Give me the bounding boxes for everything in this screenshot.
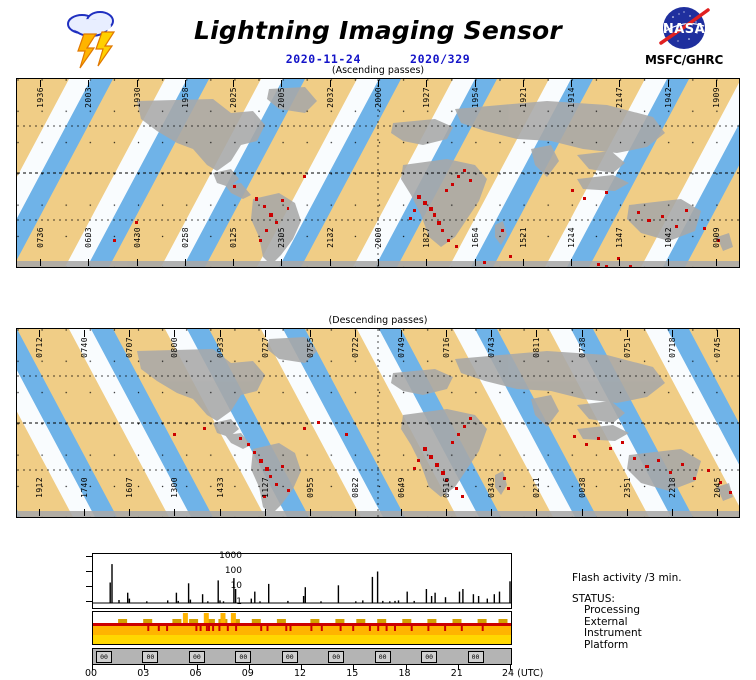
orbit-desc-top-tick (446, 330, 447, 337)
flash-bar (178, 601, 179, 603)
orbit-desc-top-tick (672, 330, 673, 337)
orbit-desc-bottom-label: 1300 (170, 477, 179, 498)
processing-mark (499, 619, 508, 623)
instrument-mark (260, 626, 262, 631)
orbit-desc-top-label: 0738 (578, 337, 587, 358)
orbit-desc-top-label: 0716 (442, 337, 451, 358)
flash-bar (268, 584, 269, 603)
hour-box: 00 (189, 651, 205, 663)
orbit-asc-top-label: 1936 (36, 87, 45, 108)
orbit-desc-bottom-tick (582, 509, 583, 516)
orbit-asc-bottom-label: 0909 (712, 227, 721, 248)
flash-bar (259, 601, 260, 603)
orbit-asc-top-tick (88, 80, 89, 87)
orbit-asc-top-label: 2000 (374, 87, 383, 108)
orbit-asc-top-tick (378, 80, 379, 87)
orbit-desc-top-label: 0740 (80, 337, 89, 358)
processing-mark (189, 619, 198, 623)
orbit-desc-top-tick (129, 330, 130, 337)
instrument-mark (386, 626, 388, 631)
orbit-asc-bottom-tick (571, 259, 572, 266)
processing-mark (118, 619, 127, 623)
processing-mark (221, 613, 226, 623)
orbit-asc-bottom-tick (281, 259, 282, 266)
orbit-desc-top-label: 0800 (170, 337, 179, 358)
flash-activity-chart[interactable] (92, 553, 512, 609)
processing-mark (204, 613, 209, 623)
instrument-mark (227, 626, 229, 631)
orbit-desc-bottom-label: 1433 (216, 477, 225, 498)
orbit-desc-top-tick (491, 330, 492, 337)
orbit-asc-bottom-tick (88, 259, 89, 266)
orbit-asc-top-tick (523, 80, 524, 87)
time-axis-label: 09 (242, 668, 254, 679)
instrument-mark (147, 626, 149, 631)
orbit-desc-bottom-label: 0955 (306, 477, 315, 498)
flash-bar (303, 596, 304, 603)
time-axis-label: 03 (137, 668, 149, 679)
orbit-desc-bottom-label: 0343 (487, 477, 496, 498)
time-axis-label: 06 (190, 668, 202, 679)
orbit-asc-bottom-tick (40, 259, 41, 266)
y-tick-label-100: 100 (202, 566, 242, 576)
svg-text:NASA: NASA (663, 22, 705, 37)
instrument-mark (444, 626, 446, 631)
orbit-asc-top-label: 1930 (133, 87, 142, 108)
instrument-mark (340, 626, 342, 631)
status-label-processing: Processing (584, 605, 756, 617)
orbit-asc-bottom-label: 2305 (277, 227, 286, 248)
flash-bar (377, 572, 378, 604)
orbit-desc-bottom-tick (355, 509, 356, 516)
orbit-desc-bottom-label: 1740 (80, 477, 89, 498)
orbit-desc-top-tick (84, 330, 85, 337)
flash-bar (459, 592, 460, 603)
orbit-asc-top-label: 1954 (471, 87, 480, 108)
orbit-desc-bottom-tick (536, 509, 537, 516)
instrument-mark (352, 626, 354, 631)
orbit-asc-bottom-label: 1042 (664, 227, 673, 248)
orbit-desc-top-label: 0751 (623, 337, 632, 358)
orbit-asc-bottom-tick (378, 259, 379, 266)
processing-mark (402, 619, 411, 623)
orbit-desc-top-tick (717, 330, 718, 337)
processing-mark (310, 619, 319, 623)
time-axis-panel: 000000000000000000 (92, 648, 512, 665)
orbit-desc-top-tick (355, 330, 356, 337)
orbit-desc-bottom-label: 0211 (532, 477, 541, 498)
processing-mark (453, 619, 462, 623)
orbit-desc-top-label: 0749 (397, 337, 406, 358)
flash-bar (111, 564, 112, 603)
orbit-asc-bottom-tick (668, 259, 669, 266)
flash-bar (305, 587, 306, 603)
orbit-asc-bottom-label: 2000 (374, 227, 383, 248)
orbit-desc-top-label: 0743 (487, 337, 496, 358)
orbit-asc-bottom-tick (619, 259, 620, 266)
processing-mark (143, 619, 152, 623)
status-label-instrument: Instrument (584, 628, 756, 640)
orbit-asc-bottom-label: 1521 (519, 227, 528, 248)
orbit-desc-top-tick (310, 330, 311, 337)
hour-box: 00 (142, 651, 158, 663)
flash-activity-plot (93, 554, 511, 608)
flash-bar (478, 596, 479, 603)
orbit-asc-top-tick (137, 80, 138, 87)
flash-bar (372, 577, 373, 603)
flash-bar (355, 601, 356, 603)
time-axis-unit-label: 24 (UTC) (502, 668, 543, 679)
processing-mark (277, 619, 286, 623)
instrument-mark (235, 626, 237, 631)
instrument-mark (482, 626, 484, 631)
orbit-asc-top-tick (619, 80, 620, 87)
orbit-desc-bottom-tick (84, 509, 85, 516)
orbit-asc-bottom-label: 2132 (326, 227, 335, 248)
orbit-asc-top-tick (571, 80, 572, 87)
processing-mark (478, 619, 487, 623)
status-bars-plot (93, 612, 511, 644)
flash-bar (287, 601, 288, 603)
orbit-asc-top-label: 2025 (229, 87, 238, 108)
flash-bar (398, 600, 399, 603)
orbit-desc-bottom-tick (310, 509, 311, 516)
instrument-mark (158, 626, 160, 631)
orbit-asc-bottom-label: 1827 (422, 227, 431, 248)
orbit-desc-bottom-label: 2045 (713, 477, 722, 498)
orbit-desc-bottom-label: 2218 (668, 477, 677, 498)
hour-box: 00 (468, 651, 484, 663)
hour-box: 00 (96, 651, 112, 663)
descending-caption: (Descending passes) (0, 315, 756, 326)
orbit-asc-top-tick (233, 80, 234, 87)
orbit-asc-bottom-tick (475, 259, 476, 266)
orbit-desc-bottom-label: 1607 (125, 477, 134, 498)
orbit-asc-top-tick (281, 80, 282, 87)
flash-bar (407, 592, 408, 603)
flash-bar (414, 601, 415, 603)
processing-mark (377, 619, 386, 623)
hour-box: 00 (235, 651, 251, 663)
flash-bars (93, 564, 511, 603)
orbit-desc-top-tick (265, 330, 266, 337)
orbit-desc-top-label: 0727 (261, 337, 270, 358)
flash-activity-label: Flash activity /3 min. (572, 572, 756, 584)
flash-bar (487, 599, 488, 603)
flash-bar (190, 600, 191, 603)
orbit-asc-bottom-label: 0736 (36, 227, 45, 248)
y-tick-label-1: 1 (202, 597, 242, 607)
orbit-asc-top-label: 1942 (664, 87, 673, 108)
orbit-asc-top-label: 1909 (712, 87, 721, 108)
orbit-desc-top-tick (627, 330, 628, 337)
instrument-mark (290, 626, 292, 631)
orbit-asc-bottom-label: 1214 (567, 227, 576, 248)
orbit-asc-bottom-tick (716, 259, 717, 266)
orbit-desc-bottom-tick (491, 509, 492, 516)
instrument-mark (267, 626, 269, 631)
orbit-asc-bottom-tick (330, 259, 331, 266)
y-tick-label-10: 10 (202, 581, 242, 591)
instrument-mark (321, 626, 323, 631)
processing-mark (335, 619, 344, 623)
orbit-desc-bottom-label: 2351 (623, 477, 632, 498)
orbit-desc-top-label: 0722 (351, 337, 360, 358)
time-axis-label: 00 (85, 668, 97, 679)
hour-box: 00 (328, 651, 344, 663)
processing-mark (231, 613, 236, 623)
orbit-desc-bottom-tick (717, 509, 718, 516)
orbit-asc-top-tick (330, 80, 331, 87)
instrument-mark (411, 626, 413, 631)
orbit-desc-bottom-label: 0649 (397, 477, 406, 498)
orbit-desc-bottom-tick (174, 509, 175, 516)
orbit-asc-top-tick (668, 80, 669, 87)
flash-bar (473, 594, 474, 603)
orbit-desc-top-label: 0718 (668, 337, 677, 358)
orbit-desc-bottom-tick (129, 509, 130, 516)
flash-bar (167, 600, 168, 603)
hour-box: 00 (282, 651, 298, 663)
orbit-asc-bottom-tick (426, 259, 427, 266)
orbit-asc-bottom-label: 0603 (84, 227, 93, 248)
time-axis-label: 21 (451, 668, 463, 679)
orbit-desc-bottom-label: 1912 (35, 477, 44, 498)
processing-mark (172, 619, 181, 623)
orbit-desc-top-label: 0755 (306, 337, 315, 358)
instrument-mark (461, 626, 463, 631)
flash-bar (176, 593, 177, 603)
flash-bar (431, 596, 432, 603)
orbit-desc-bottom-tick (401, 509, 402, 516)
instrument-mark (285, 626, 287, 631)
orbit-desc-top-label: 0933 (216, 337, 225, 358)
orbit-asc-top-label: 2005 (277, 87, 286, 108)
orbit-asc-bottom-tick (233, 259, 234, 266)
orbit-desc-top-tick (220, 330, 221, 337)
flash-bar (362, 600, 363, 603)
orbit-asc-bottom-label: 0430 (133, 227, 142, 248)
orbit-asc-bottom-label: 0258 (181, 227, 190, 248)
flash-bar (445, 597, 446, 603)
orbit-asc-bottom-tick (137, 259, 138, 266)
instrument-mark (310, 626, 312, 631)
flash-bar (389, 601, 390, 603)
status-bars-panel[interactable] (92, 611, 512, 645)
orbit-desc-top-tick (401, 330, 402, 337)
orbit-desc-bottom-tick (220, 509, 221, 516)
orbit-asc-top-tick (716, 80, 717, 87)
hour-box: 00 (421, 651, 437, 663)
orbit-desc-bottom-tick (265, 509, 266, 516)
nasa-meatball-logo: NASA (654, 4, 714, 52)
y-tick-label-1000: 1000 (202, 551, 242, 561)
day-of-year: 2020/329 (410, 52, 470, 66)
orbit-asc-bottom-tick (185, 259, 186, 266)
orbit-asc-top-tick (475, 80, 476, 87)
chart-legend: Flash activity /3 min. STATUS: Processin… (572, 572, 756, 651)
instrument-mark (212, 626, 214, 631)
flash-bar (254, 592, 255, 603)
flash-bar (320, 601, 321, 603)
instrument-mark (427, 626, 429, 631)
flash-bar (127, 593, 128, 603)
orbit-asc-bottom-label: 0125 (229, 227, 238, 248)
orbit-asc-top-tick (185, 80, 186, 87)
flash-bar (494, 594, 495, 603)
instrument-mark (166, 626, 168, 631)
orbit-asc-top-tick (426, 80, 427, 87)
status-label-platform: Platform (584, 640, 756, 652)
processing-mark (427, 619, 436, 623)
orbit-asc-top-label: 2147 (615, 87, 624, 108)
orbit-desc-bottom-label: 0822 (351, 477, 360, 498)
ascending-caption: (Ascending passes) (0, 65, 756, 76)
processing-mark (356, 619, 365, 623)
status-instrument-band (93, 626, 511, 635)
orbit-desc-top-tick (39, 330, 40, 337)
time-axis-label: 18 (399, 668, 411, 679)
nasa-logo-block: NASA MSFC/GHRC (623, 4, 745, 74)
instrument-mark (200, 626, 202, 631)
orbit-desc-bottom-tick (672, 509, 673, 516)
orbit-desc-top-label: 0745 (713, 337, 722, 358)
instrument-mark (394, 626, 396, 631)
flash-bar (146, 601, 147, 603)
flash-bar (499, 592, 500, 603)
instrument-mark (369, 626, 371, 631)
flash-bar (188, 583, 189, 603)
orbit-asc-top-label: 2003 (84, 87, 93, 108)
orbit-desc-top-tick (582, 330, 583, 337)
flash-bar (110, 583, 111, 604)
orbit-asc-bottom-label: 1347 (615, 227, 624, 248)
instrument-mark (206, 626, 208, 631)
time-axis-label: 15 (346, 668, 358, 679)
instrument-mark (218, 626, 220, 631)
instrument-mark (377, 626, 379, 631)
processing-mark (252, 619, 261, 623)
flash-bar (382, 601, 383, 603)
flash-bar (509, 581, 510, 603)
orbit-desc-top-label: 0707 (125, 337, 134, 358)
instrument-mark (195, 626, 197, 631)
orbit-asc-top-label: 1927 (422, 87, 431, 108)
orbit-asc-top-label: 1958 (181, 87, 190, 108)
orbit-desc-top-tick (174, 330, 175, 337)
flash-bar (338, 585, 339, 603)
flash-bar (394, 601, 395, 603)
orbit-desc-bottom-tick (39, 509, 40, 516)
status-external-band (93, 623, 511, 626)
orbit-desc-bottom-label: 1127 (261, 477, 270, 498)
orbit-desc-bottom-label: 0038 (578, 477, 587, 498)
orbit-asc-top-tick (40, 80, 41, 87)
orbit-asc-bottom-label: 1654 (471, 227, 480, 248)
hour-box: 00 (375, 651, 391, 663)
status-processing-band (93, 612, 511, 623)
orbit-asc-top-label: 1921 (519, 87, 528, 108)
flash-bar (462, 589, 463, 603)
orbit-desc-bottom-label: 0516 (442, 477, 451, 498)
flash-bar (129, 599, 130, 603)
orbit-desc-top-tick (536, 330, 537, 337)
observation-date: 2020-11-24 (286, 52, 361, 66)
orbit-asc-top-label: 2032 (326, 87, 335, 108)
flash-bar (118, 600, 119, 603)
flash-bar (434, 593, 435, 603)
orbit-desc-top-label: 0712 (35, 337, 44, 358)
orbit-desc-top-label: 0811 (532, 337, 541, 358)
processing-mark (183, 613, 188, 623)
flash-bar (426, 589, 427, 603)
status-platform-band (93, 635, 511, 644)
orbit-asc-top-label: 1914 (567, 87, 576, 108)
flash-bar (251, 599, 252, 603)
orbit-asc-bottom-tick (523, 259, 524, 266)
orbit-desc-bottom-tick (446, 509, 447, 516)
instrument-mark (208, 626, 210, 631)
time-axis-label: 12 (294, 668, 306, 679)
orbit-desc-bottom-tick (627, 509, 628, 516)
